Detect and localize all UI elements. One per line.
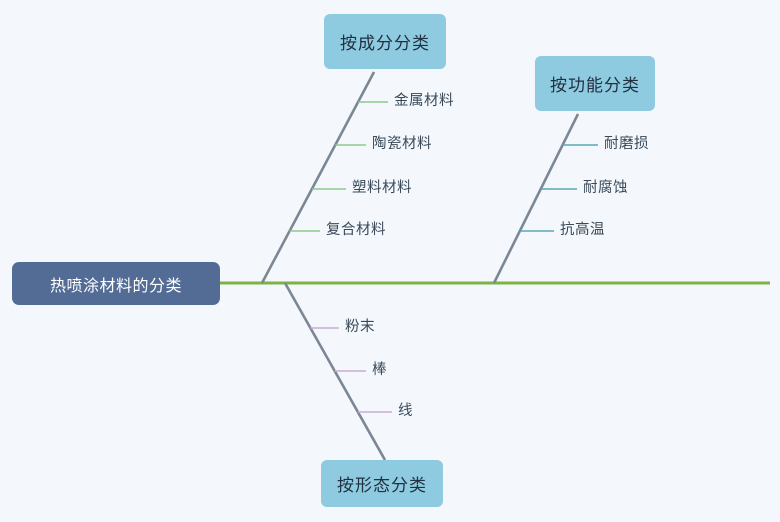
leaf-label-composition-0: 金属材料 — [394, 94, 454, 109]
rib-line-composition — [262, 72, 374, 283]
leaf-label-form-1: 棒 — [372, 363, 387, 378]
root-node-box[interactable]: 热喷涂材料的分类 — [12, 262, 220, 305]
rib-line-function — [494, 114, 578, 283]
leaf-label-composition-1: 陶瓷材料 — [372, 137, 432, 152]
category-box-composition[interactable]: 按成分分类 — [324, 14, 446, 69]
leaf-label-form-2: 线 — [398, 404, 413, 419]
leaf-label-form-0: 粉末 — [345, 320, 375, 335]
leaf-label-composition-2: 塑料材料 — [352, 181, 412, 196]
fishbone-lines — [0, 0, 780, 522]
leaf-label-composition-3: 复合材料 — [326, 223, 386, 238]
leaf-label-function-2: 抗高温 — [560, 223, 605, 238]
leaf-label-function-1: 耐腐蚀 — [583, 181, 628, 196]
category-box-function[interactable]: 按功能分类 — [535, 56, 655, 111]
leaf-label-function-0: 耐磨损 — [604, 137, 649, 152]
category-box-form[interactable]: 按形态分类 — [321, 460, 443, 507]
fishbone-diagram-canvas: 金属材料陶瓷材料塑料材料复合材料按成分分类耐磨损耐腐蚀抗高温按功能分类粉末棒线按… — [0, 0, 780, 522]
